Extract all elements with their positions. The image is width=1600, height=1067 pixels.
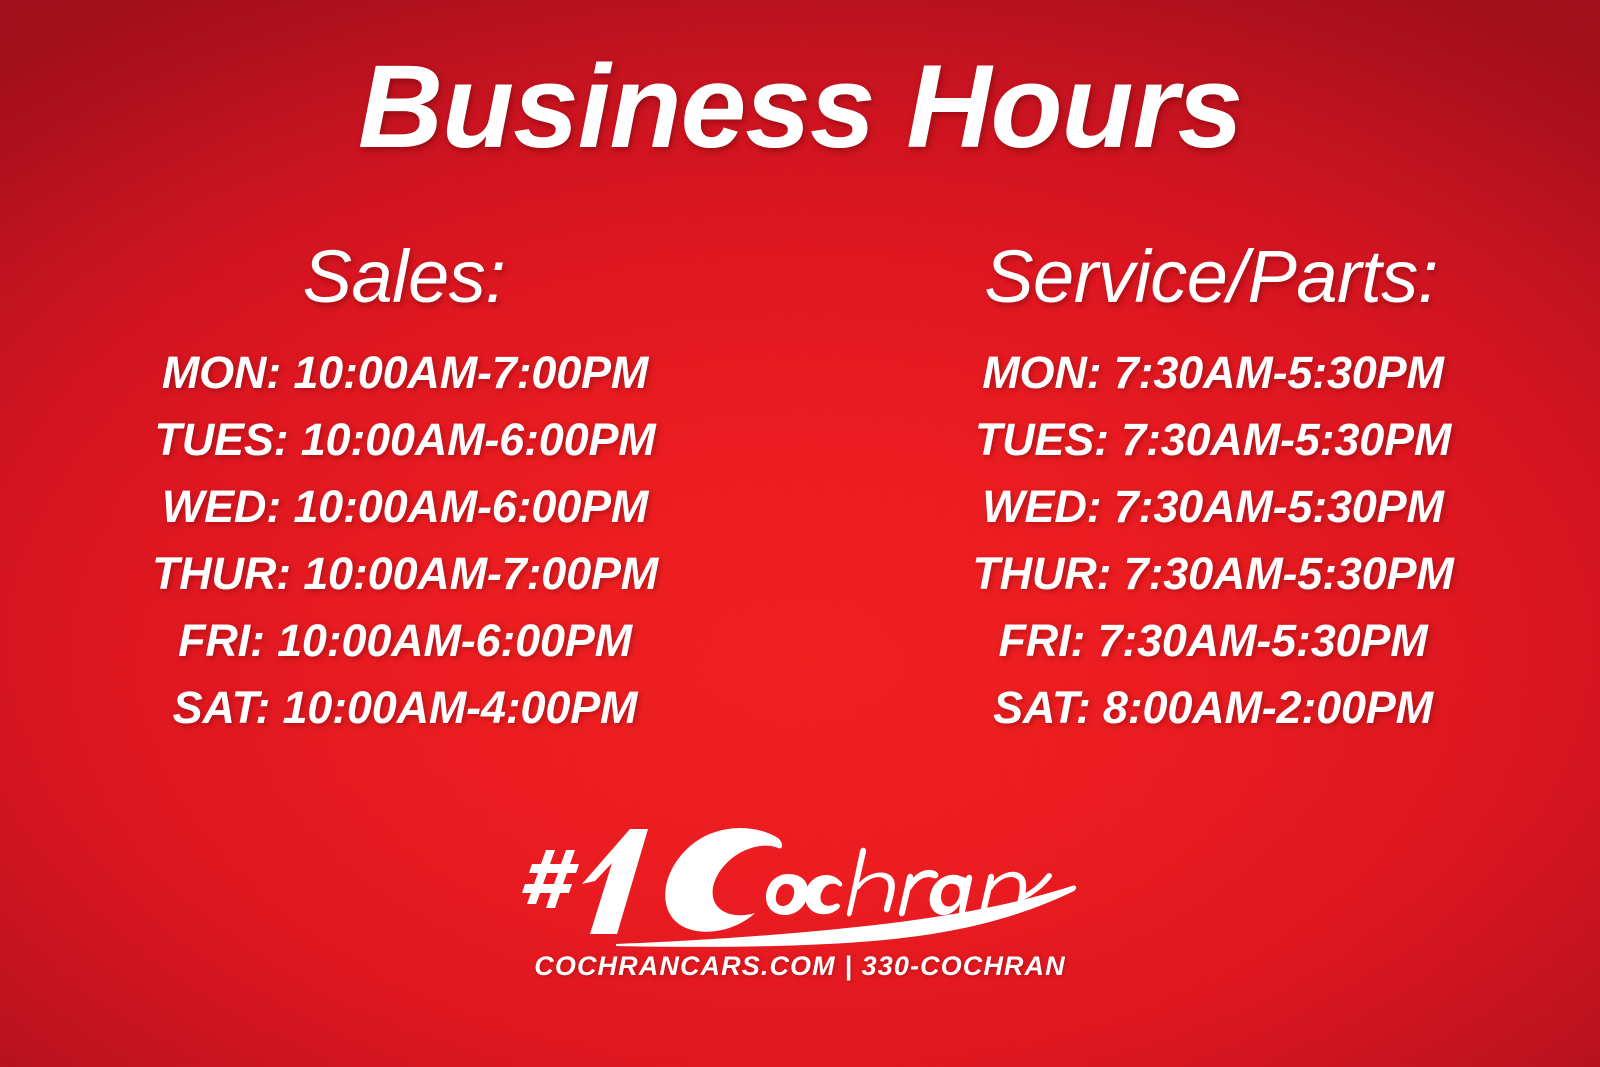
hours-row: WED: 10:00AM-6:00PM (0, 484, 800, 551)
poster-content: Business Hours Sales: MON: 10:00AM-7:00P… (0, 0, 1600, 1067)
hours-row: TUES: 10:00AM-6:00PM (0, 417, 800, 484)
hours-row: FRI: 10:00AM-6:00PM (0, 618, 800, 685)
hours-row: TUES: 7:30AM-5:30PM (800, 417, 1600, 484)
service-parts-hours-column: Service/Parts: MON: 7:30AM-5:30PM TUES: … (800, 240, 1600, 752)
hours-row: WED: 7:30AM-5:30PM (800, 484, 1600, 551)
cochran-logo-icon (520, 812, 1080, 947)
hours-row: FRI: 7:30AM-5:30PM (800, 618, 1600, 685)
service-parts-column-heading: Service/Parts: (800, 240, 1600, 314)
brand-footer-contact: COCHRANCARS.COM | 330-COCHRAN (0, 951, 1600, 982)
hours-row: THUR: 10:00AM-7:00PM (0, 551, 800, 618)
hours-row: THUR: 7:30AM-5:30PM (800, 551, 1600, 618)
page-title: Business Hours (0, 48, 1600, 166)
hours-row: MON: 7:30AM-5:30PM (800, 350, 1600, 417)
hours-row: SAT: 10:00AM-4:00PM (0, 685, 800, 752)
sales-column-heading: Sales: (0, 240, 800, 314)
sales-hours-column: Sales: MON: 10:00AM-7:00PM TUES: 10:00AM… (0, 240, 800, 752)
sales-hours-list: MON: 10:00AM-7:00PM TUES: 10:00AM-6:00PM… (0, 350, 800, 752)
hours-row: SAT: 8:00AM-2:00PM (800, 685, 1600, 752)
brand-logo-block: COCHRANCARS.COM | 330-COCHRAN (0, 812, 1600, 982)
service-parts-hours-list: MON: 7:30AM-5:30PM TUES: 7:30AM-5:30PM W… (800, 350, 1600, 752)
hours-columns: Sales: MON: 10:00AM-7:00PM TUES: 10:00AM… (0, 240, 1600, 752)
hours-row: MON: 10:00AM-7:00PM (0, 350, 800, 417)
